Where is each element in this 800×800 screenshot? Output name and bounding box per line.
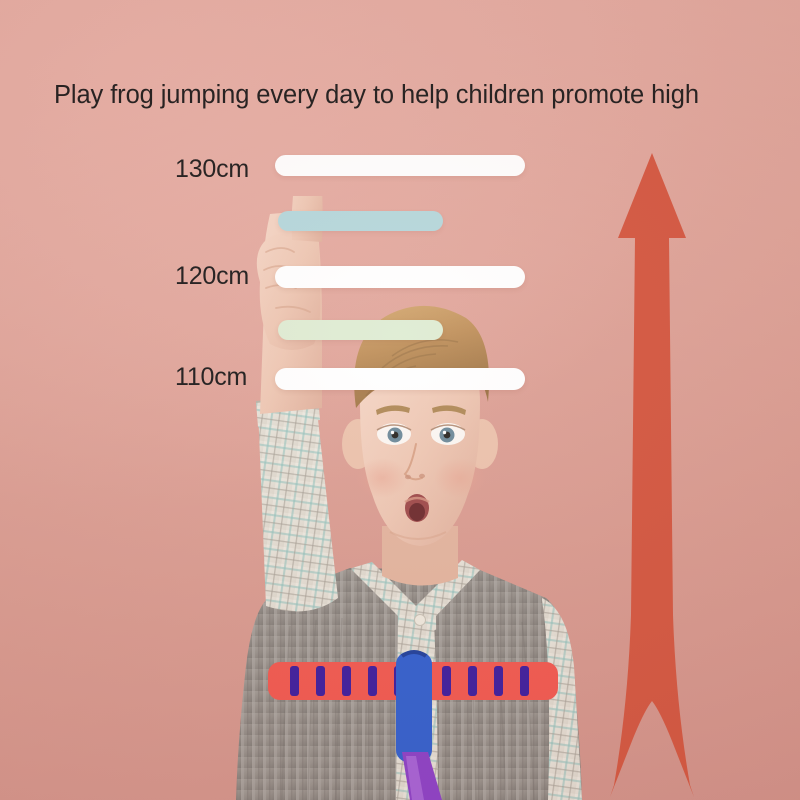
height-bar-125 (278, 211, 443, 231)
product-image: 130cm 120cm 110cm Play frog jumping ever… (0, 0, 800, 800)
height-label-110: 110cm (175, 365, 247, 390)
headline-text: Play frog jumping every day to help chil… (54, 78, 754, 112)
height-bar-115 (278, 320, 443, 340)
height-bar-130 (275, 155, 525, 176)
height-label-130: 130cm (175, 157, 249, 182)
height-bar-110 (275, 368, 525, 390)
height-label-120: 120cm (175, 264, 249, 289)
height-bar-120 (275, 266, 525, 288)
height-chart: 130cm 120cm 110cm (0, 0, 800, 800)
